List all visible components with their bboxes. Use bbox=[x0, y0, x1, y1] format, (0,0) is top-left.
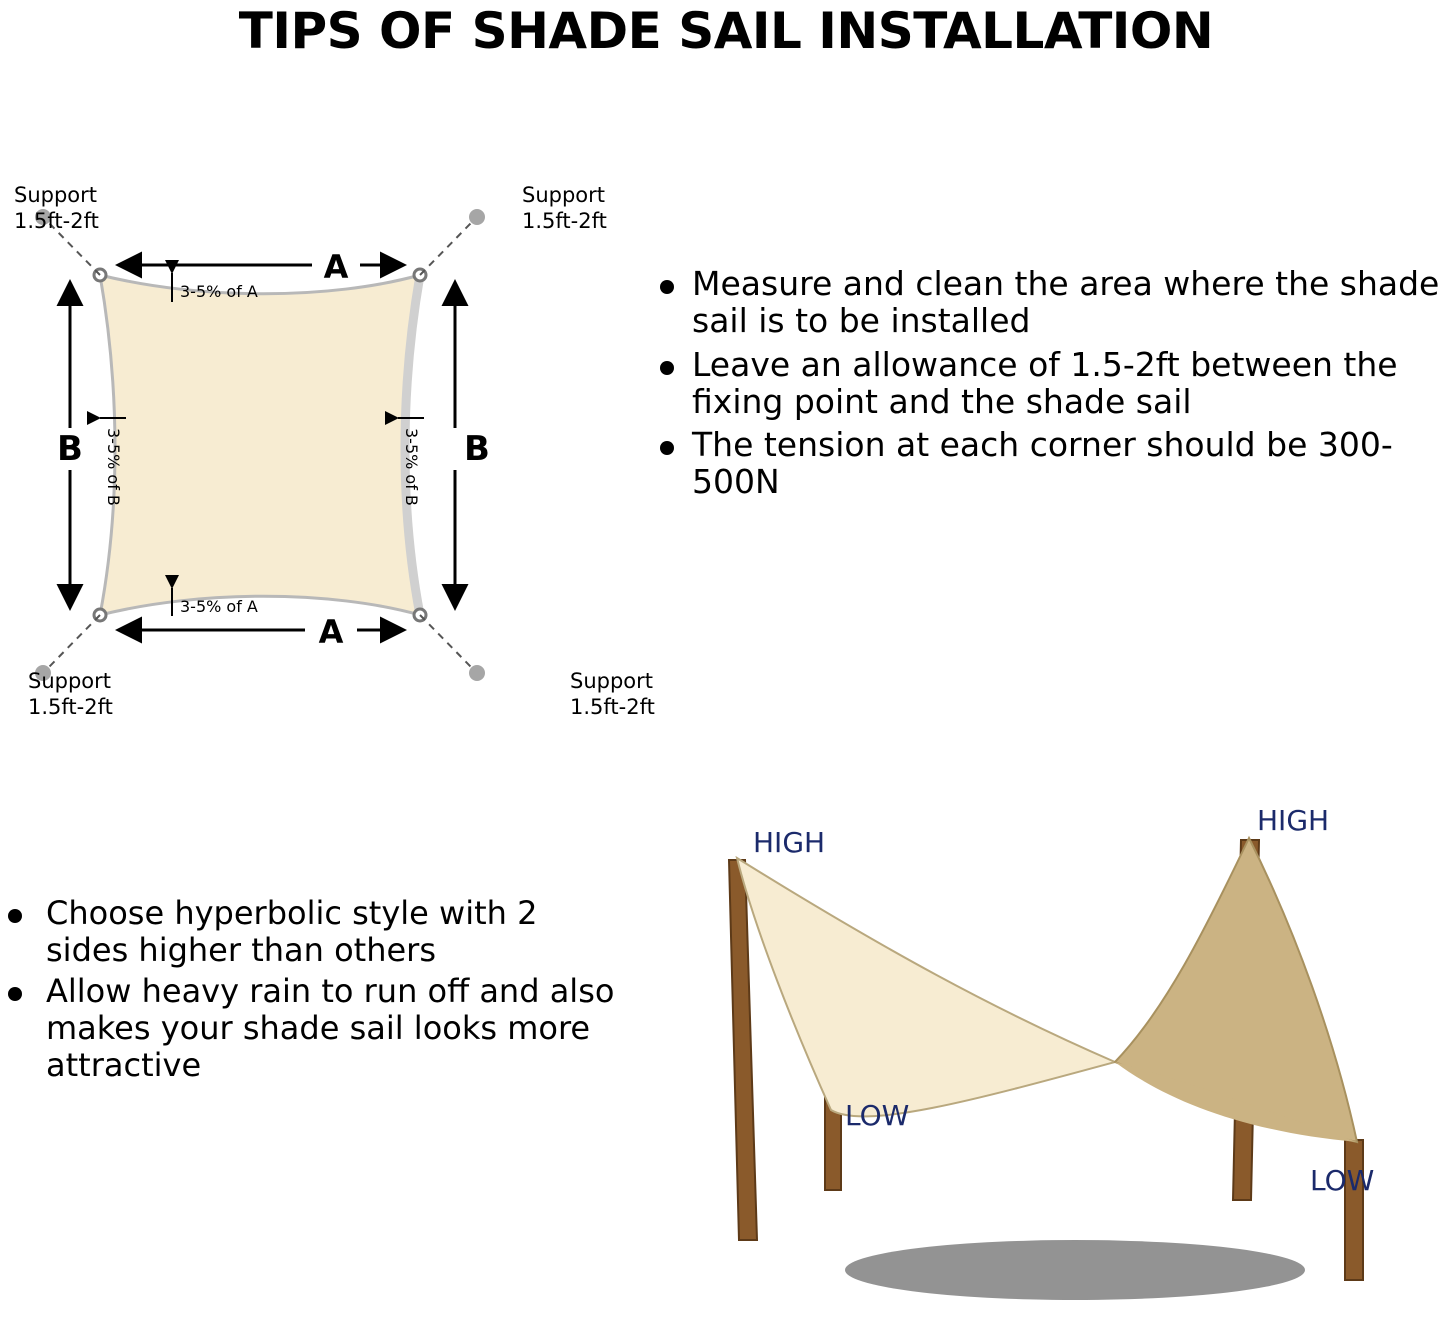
support-line-top-right bbox=[420, 222, 472, 275]
curve-label-top: 3-5% of A bbox=[180, 282, 258, 301]
bullet-dot-icon bbox=[660, 361, 674, 375]
sail-shape bbox=[100, 275, 420, 615]
tip-text: Measure and clean the area where the sha… bbox=[692, 264, 1439, 340]
support-label-top-right-line1: Support bbox=[522, 183, 605, 207]
curve-label-right: 3-5% of B bbox=[402, 428, 421, 506]
support-line-bottom-left bbox=[48, 615, 100, 668]
list-item: Measure and clean the area where the sha… bbox=[648, 265, 1452, 340]
post-low-right bbox=[1345, 1140, 1363, 1280]
label-low-left: LOW bbox=[845, 1099, 909, 1132]
page-title: TIPS OF SHADE SAIL INSTALLATION bbox=[0, 2, 1452, 60]
bullet-dot-icon bbox=[8, 987, 22, 1001]
ground-shadow bbox=[845, 1240, 1305, 1300]
label-top-A: A bbox=[324, 248, 349, 286]
support-line-bottom-right bbox=[420, 615, 472, 668]
support-label-bottom-right-line1: Support bbox=[570, 669, 653, 693]
list-item: Choose hyperbolic style with 2 sides hig… bbox=[0, 895, 625, 969]
bullet-dot-icon bbox=[660, 280, 674, 294]
bullet-dot-icon bbox=[660, 441, 674, 455]
sail-panel-dark bbox=[1115, 838, 1357, 1142]
label-left-B: B bbox=[57, 429, 83, 469]
support-label-top-left-line1: Support bbox=[14, 183, 97, 207]
support-label-bottom-left-line1: Support bbox=[28, 669, 111, 693]
support-label-top-right-line2: 1.5ft-2ft bbox=[522, 209, 607, 233]
support-dot-top-right bbox=[469, 209, 485, 225]
list-item: Leave an allowance of 1.5-2ft between th… bbox=[648, 346, 1452, 421]
support-label-top-left-line2: 1.5ft-2ft bbox=[14, 209, 99, 233]
post-high-left bbox=[729, 860, 757, 1240]
bullet-dot-icon bbox=[8, 909, 22, 923]
support-label-bottom-left-line2: 1.5ft-2ft bbox=[28, 695, 113, 719]
list-item: The tension at each corner should be 300… bbox=[648, 426, 1452, 501]
tip-text: The tension at each corner should be 300… bbox=[692, 425, 1393, 501]
label-bottom-A: A bbox=[319, 613, 344, 651]
label-high-right: HIGH bbox=[1257, 804, 1329, 837]
curve-label-bottom: 3-5% of A bbox=[180, 597, 258, 616]
tips-list-top: Measure and clean the area where the sha… bbox=[648, 265, 1452, 507]
label-low-right: LOW bbox=[1310, 1164, 1374, 1197]
tip-text: Leave an allowance of 1.5-2ft between th… bbox=[692, 345, 1398, 421]
tip-text: Allow heavy rain to run off and also mak… bbox=[46, 972, 614, 1084]
bottom-diagram: HIGH HIGH LOW LOW bbox=[645, 780, 1452, 1325]
label-high-left: HIGH bbox=[753, 826, 825, 859]
tips-list-bottom: Choose hyperbolic style with 2 sides hig… bbox=[0, 895, 625, 1089]
list-item: Allow heavy rain to run off and also mak… bbox=[0, 973, 625, 1084]
curve-label-left: 3-5% of B bbox=[104, 428, 123, 506]
sail-panel-light bbox=[737, 858, 1115, 1116]
support-label-bottom-right-line2: 1.5ft-2ft bbox=[570, 695, 655, 719]
support-dot-bottom-right bbox=[469, 665, 485, 681]
top-diagram: A A B B 3-5% of A 3-5% of A 3-5% of B 3-… bbox=[0, 160, 660, 740]
label-right-B: B bbox=[464, 429, 490, 469]
tip-text: Choose hyperbolic style with 2 sides hig… bbox=[46, 894, 537, 969]
